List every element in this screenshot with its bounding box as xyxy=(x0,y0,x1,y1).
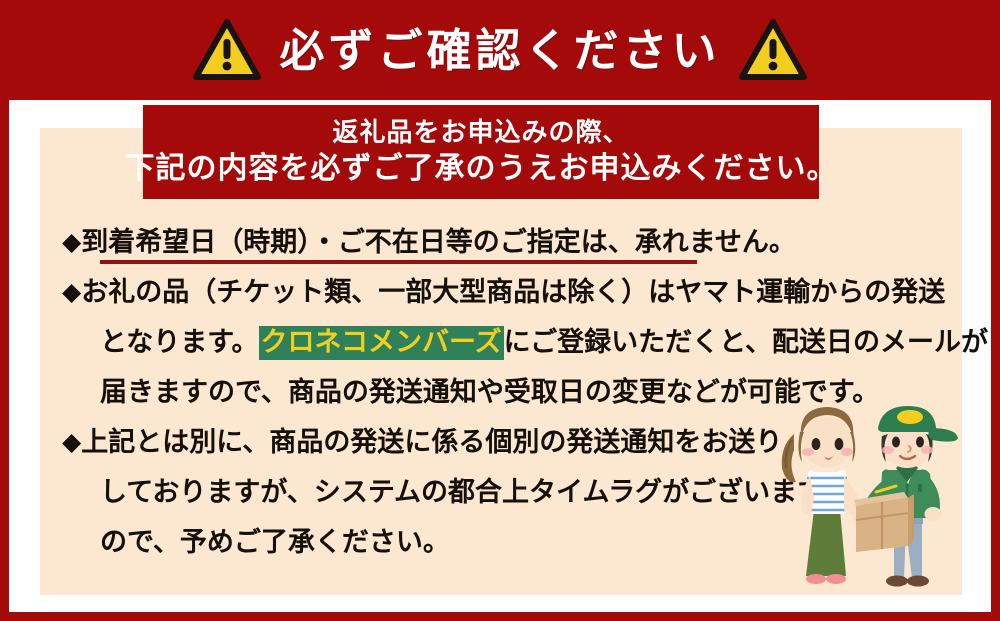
notice-banner: 必ずご確認ください 返礼品をお申込みの際、 下記の内容を必ずご了承のうえお申込み… xyxy=(0,0,1000,621)
page-title: 必ずご確認ください xyxy=(279,28,720,73)
delivery-handoff-illustration xyxy=(770,398,966,595)
notice-text: しておりますが、システムの都合上タイムラグがございます xyxy=(100,477,824,508)
notice-text: お礼の品（チケット類、一部大型商品は除く）はヤマト運輸からの発送 xyxy=(81,277,945,308)
notice-text-line: ◆お礼の品（チケット類、一部大型商品は除く）はヤマト運輸からの発送 xyxy=(62,268,902,318)
notice-text: 上記とは別に、商品の発送に係る個別の発送通知をお送り xyxy=(81,427,782,458)
notice-text: にご登録いただくと、配送日のメールが xyxy=(504,327,988,358)
list-item: ◆お礼の品（チケット類、一部大型商品は除く）はヤマト運輸からの発送 となります。… xyxy=(62,268,902,418)
notice-box: 返礼品をお申込みの際、 下記の内容を必ずご了承のうえお申込みください。 xyxy=(143,105,819,199)
notice-text-line: となります。クロネコメンバーズにご登録いただくと、配送日のメールが xyxy=(62,318,902,368)
kuroneko-members-highlight[interactable]: クロネコメンバーズ xyxy=(259,326,504,360)
notice-text: ので、予めご了承ください。 xyxy=(100,527,450,558)
notice-text-line: ◆到着希望日（時期）・ご不在日等のご指定は、承れません。 xyxy=(62,218,902,268)
diamond-bullet-icon: ◆ xyxy=(62,217,81,267)
header-band: 必ずご確認ください xyxy=(0,0,1000,100)
warning-triangle-icon xyxy=(193,19,261,81)
diamond-bullet-icon: ◆ xyxy=(62,417,81,467)
notice-line-2: 下記の内容を必ずご了承のうえお申込みください。 xyxy=(125,153,838,185)
frame-border-bottom xyxy=(0,612,1000,621)
list-item: ◆到着希望日（時期）・ご不在日等のご指定は、承れません。 xyxy=(62,218,902,268)
diamond-bullet-icon: ◆ xyxy=(62,267,81,317)
notice-line-1: 返礼品をお申込みの際、 xyxy=(332,120,629,147)
notice-text: 届きますので、商品の発送通知や受取日の変更などが可能です。 xyxy=(100,377,879,408)
notice-text: 到着希望日（時期）・ご不在日等のご指定は、承れません。 xyxy=(81,227,796,258)
warning-triangle-icon xyxy=(739,19,807,81)
notice-text: となります。 xyxy=(100,327,259,358)
